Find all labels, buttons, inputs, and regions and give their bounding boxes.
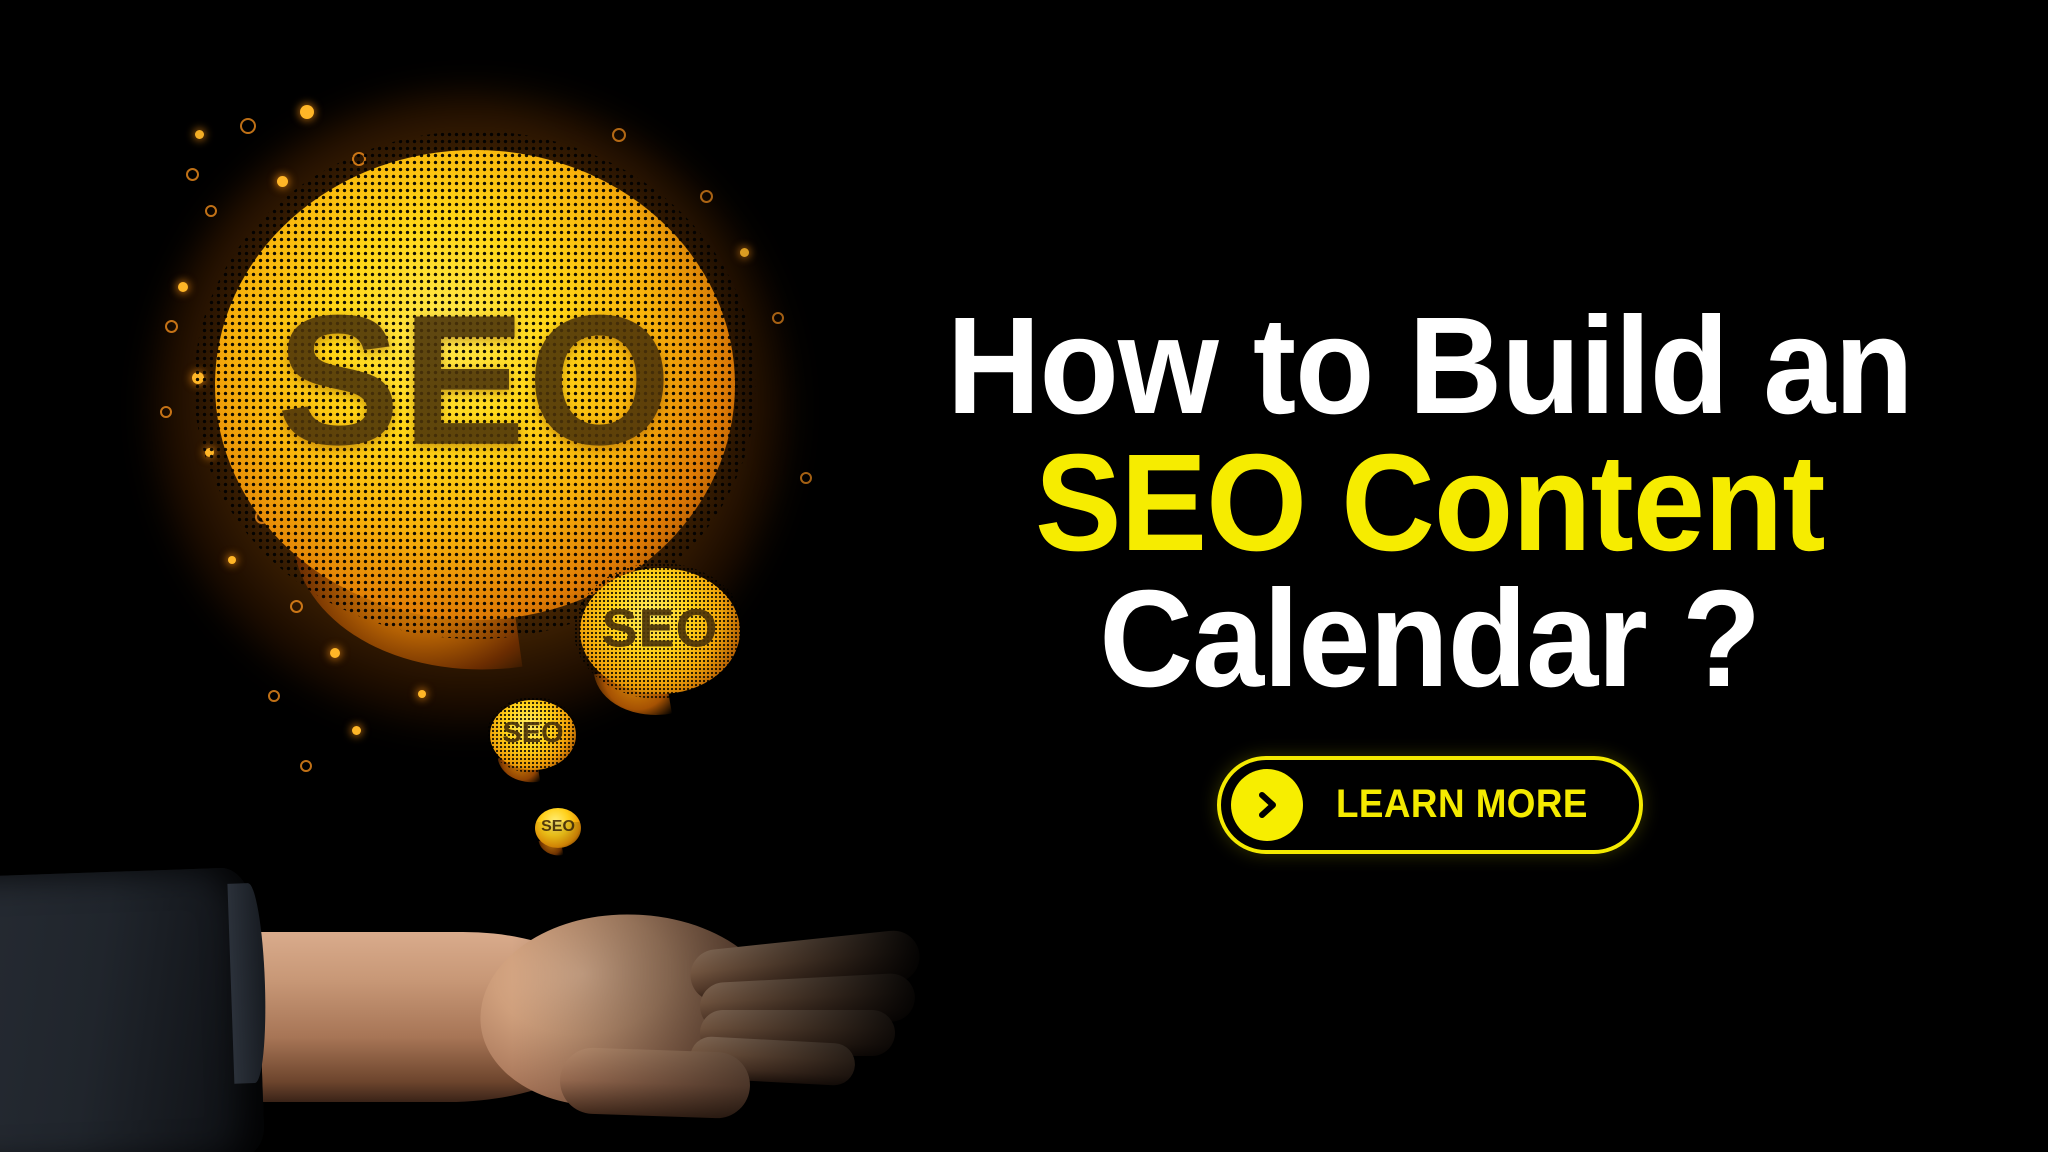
spark-particle [195,130,204,139]
spark-particle [772,312,784,324]
spark-particle [178,282,188,292]
seo-bubble-medium: SEO [580,568,740,694]
seo-artwork: SEO SEO SEO SEO [0,0,930,1152]
seo-bubble-large: SEO [215,150,735,620]
spark-particle [352,726,361,735]
open-hand-photo [0,822,930,1152]
spark-particle [740,248,749,257]
suit-sleeve [0,867,265,1152]
spark-particle [160,406,172,418]
spark-particle [418,690,426,698]
spark-particle [165,320,178,333]
headline-line-1: How to Build an [947,298,1913,435]
spark-particle [330,648,340,658]
learn-more-label: LEARN MORE [1336,782,1588,827]
spark-particle [800,472,812,484]
thumb [559,1047,751,1120]
spark-particle [612,128,626,142]
headline-line-3: Calendar ? [947,571,1913,708]
headline-line-2: SEO Content [947,435,1913,572]
spark-particle [240,118,256,134]
spark-particle [186,168,199,181]
learn-more-button[interactable]: LEARN MORE [1217,756,1643,854]
chevron-right-icon[interactable] [1231,769,1303,841]
seo-banner: SEO SEO SEO SEO [0,0,2048,1152]
spark-particle [300,105,314,119]
spark-particle [268,690,280,702]
bubble-label: SEO [215,275,735,487]
seo-bubble-small: SEO [490,700,576,770]
page-title: How to Build an SEO Content Calendar ? [916,298,1944,708]
content-column: How to Build an SEO Content Calendar ? L… [880,0,1980,1152]
bubble-label: SEO [580,598,740,660]
bubble-label: SEO [490,717,576,750]
spark-particle [300,760,312,772]
